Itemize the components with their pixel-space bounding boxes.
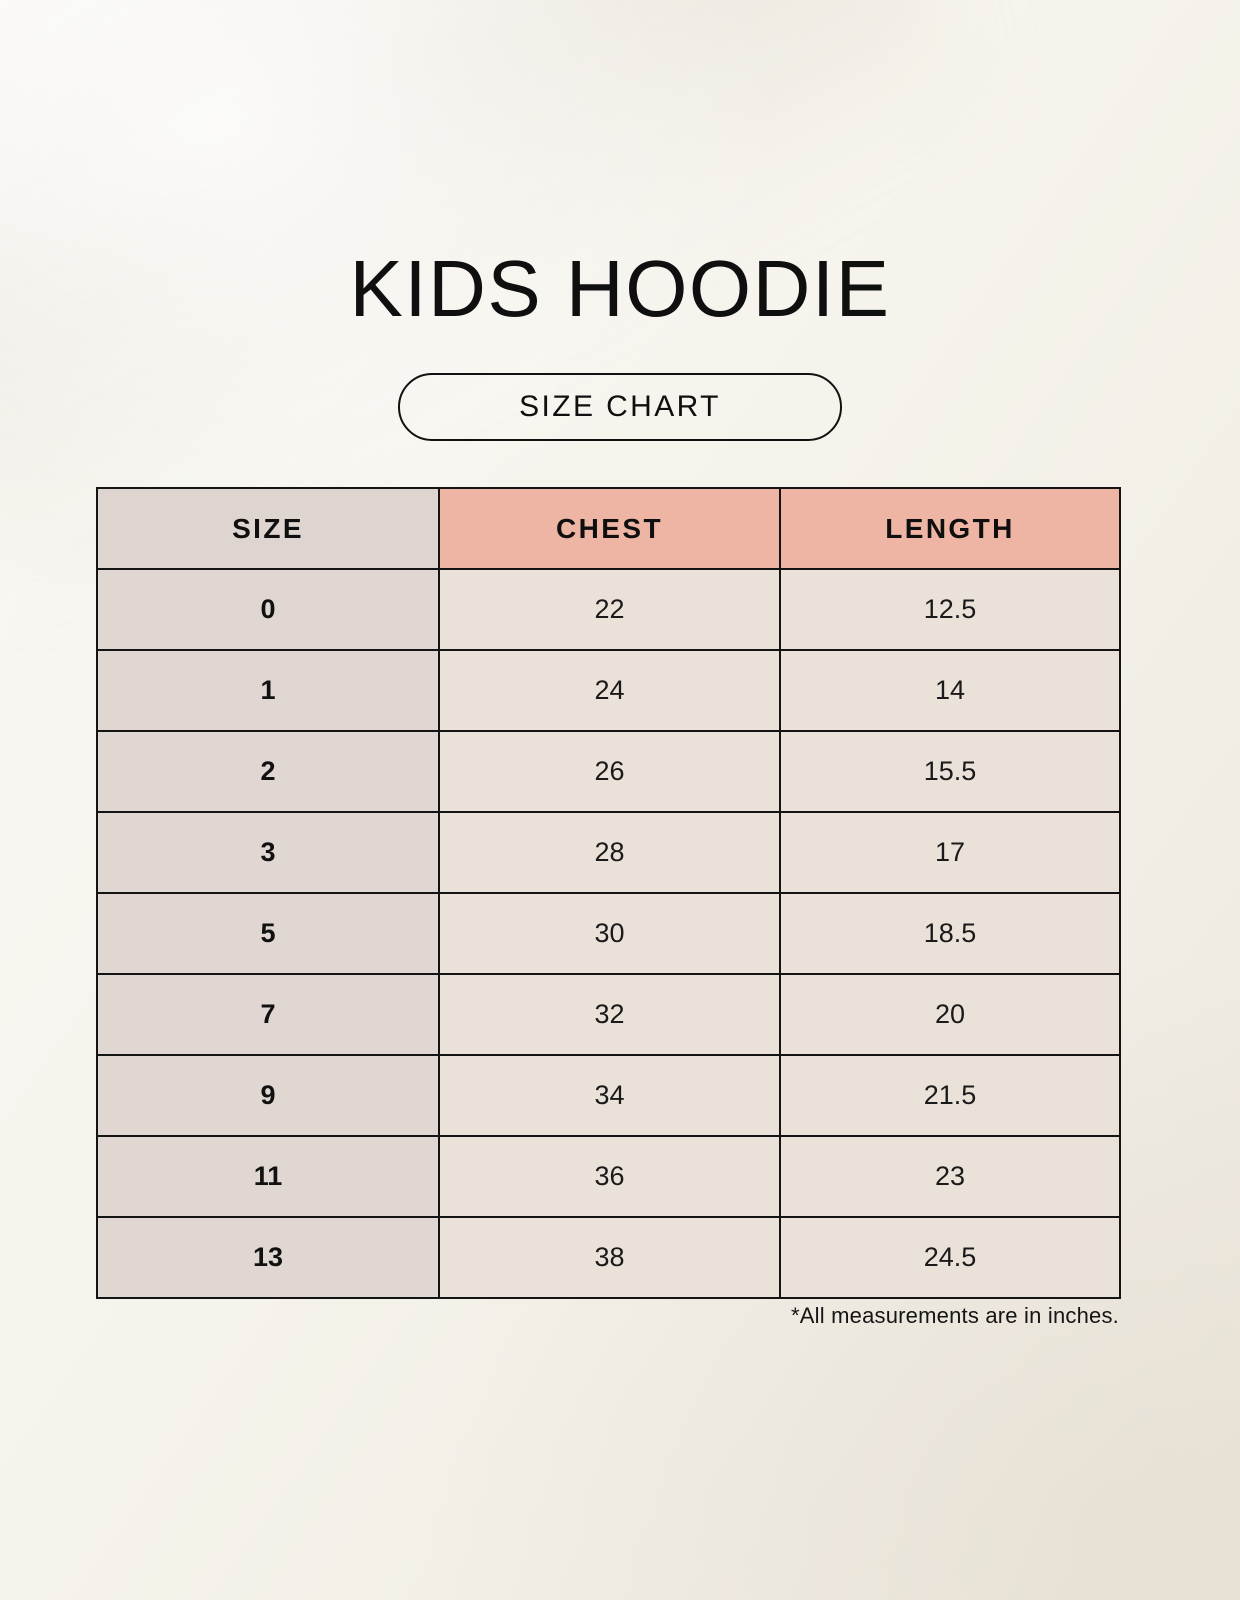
cell-chest: 28 — [439, 812, 780, 893]
cell-length: 17 — [780, 812, 1120, 893]
size-table: SIZE CHEST LENGTH 0 22 12.5 1 24 14 2 — [96, 487, 1121, 1299]
cell-size: 1 — [97, 650, 439, 731]
size-table-body: 0 22 12.5 1 24 14 2 26 15.5 3 28 17 — [97, 569, 1120, 1298]
table-row: 2 26 15.5 — [97, 731, 1120, 812]
cell-length: 20 — [780, 974, 1120, 1055]
cell-chest: 22 — [439, 569, 780, 650]
cell-chest: 24 — [439, 650, 780, 731]
cell-chest: 36 — [439, 1136, 780, 1217]
cell-size: 11 — [97, 1136, 439, 1217]
table-row: 3 28 17 — [97, 812, 1120, 893]
cell-size: 3 — [97, 812, 439, 893]
cell-chest: 30 — [439, 893, 780, 974]
cell-size: 7 — [97, 974, 439, 1055]
cell-length: 12.5 — [780, 569, 1120, 650]
cell-length: 23 — [780, 1136, 1120, 1217]
cell-size: 13 — [97, 1217, 439, 1298]
column-header-length: LENGTH — [780, 488, 1120, 569]
cell-length: 15.5 — [780, 731, 1120, 812]
size-table-container: SIZE CHEST LENGTH 0 22 12.5 1 24 14 2 — [96, 487, 1119, 1299]
cell-chest: 38 — [439, 1217, 780, 1298]
cell-length: 24.5 — [780, 1217, 1120, 1298]
size-table-head: SIZE CHEST LENGTH — [97, 488, 1120, 569]
cell-chest: 34 — [439, 1055, 780, 1136]
column-header-chest: CHEST — [439, 488, 780, 569]
table-row: 13 38 24.5 — [97, 1217, 1120, 1298]
cell-length: 14 — [780, 650, 1120, 731]
table-row: 1 24 14 — [97, 650, 1120, 731]
table-header-row: SIZE CHEST LENGTH — [97, 488, 1120, 569]
table-row: 7 32 20 — [97, 974, 1120, 1055]
cell-length: 21.5 — [780, 1055, 1120, 1136]
cell-size: 9 — [97, 1055, 439, 1136]
table-row: 11 36 23 — [97, 1136, 1120, 1217]
measurement-units-note: *All measurements are in inches. — [96, 1303, 1119, 1329]
page-title: KIDS HOODIE — [0, 246, 1240, 332]
cell-chest: 26 — [439, 731, 780, 812]
size-chart-page: KIDS HOODIE SIZE CHART SIZE CHEST LENGTH… — [0, 0, 1240, 1600]
cell-length: 18.5 — [780, 893, 1120, 974]
cell-size: 0 — [97, 569, 439, 650]
table-row: 9 34 21.5 — [97, 1055, 1120, 1136]
table-row: 0 22 12.5 — [97, 569, 1120, 650]
size-chart-badge-container: SIZE CHART — [0, 373, 1240, 441]
cell-size: 5 — [97, 893, 439, 974]
cell-chest: 32 — [439, 974, 780, 1055]
cell-size: 2 — [97, 731, 439, 812]
size-chart-badge: SIZE CHART — [398, 373, 842, 441]
table-row: 5 30 18.5 — [97, 893, 1120, 974]
column-header-size: SIZE — [97, 488, 439, 569]
